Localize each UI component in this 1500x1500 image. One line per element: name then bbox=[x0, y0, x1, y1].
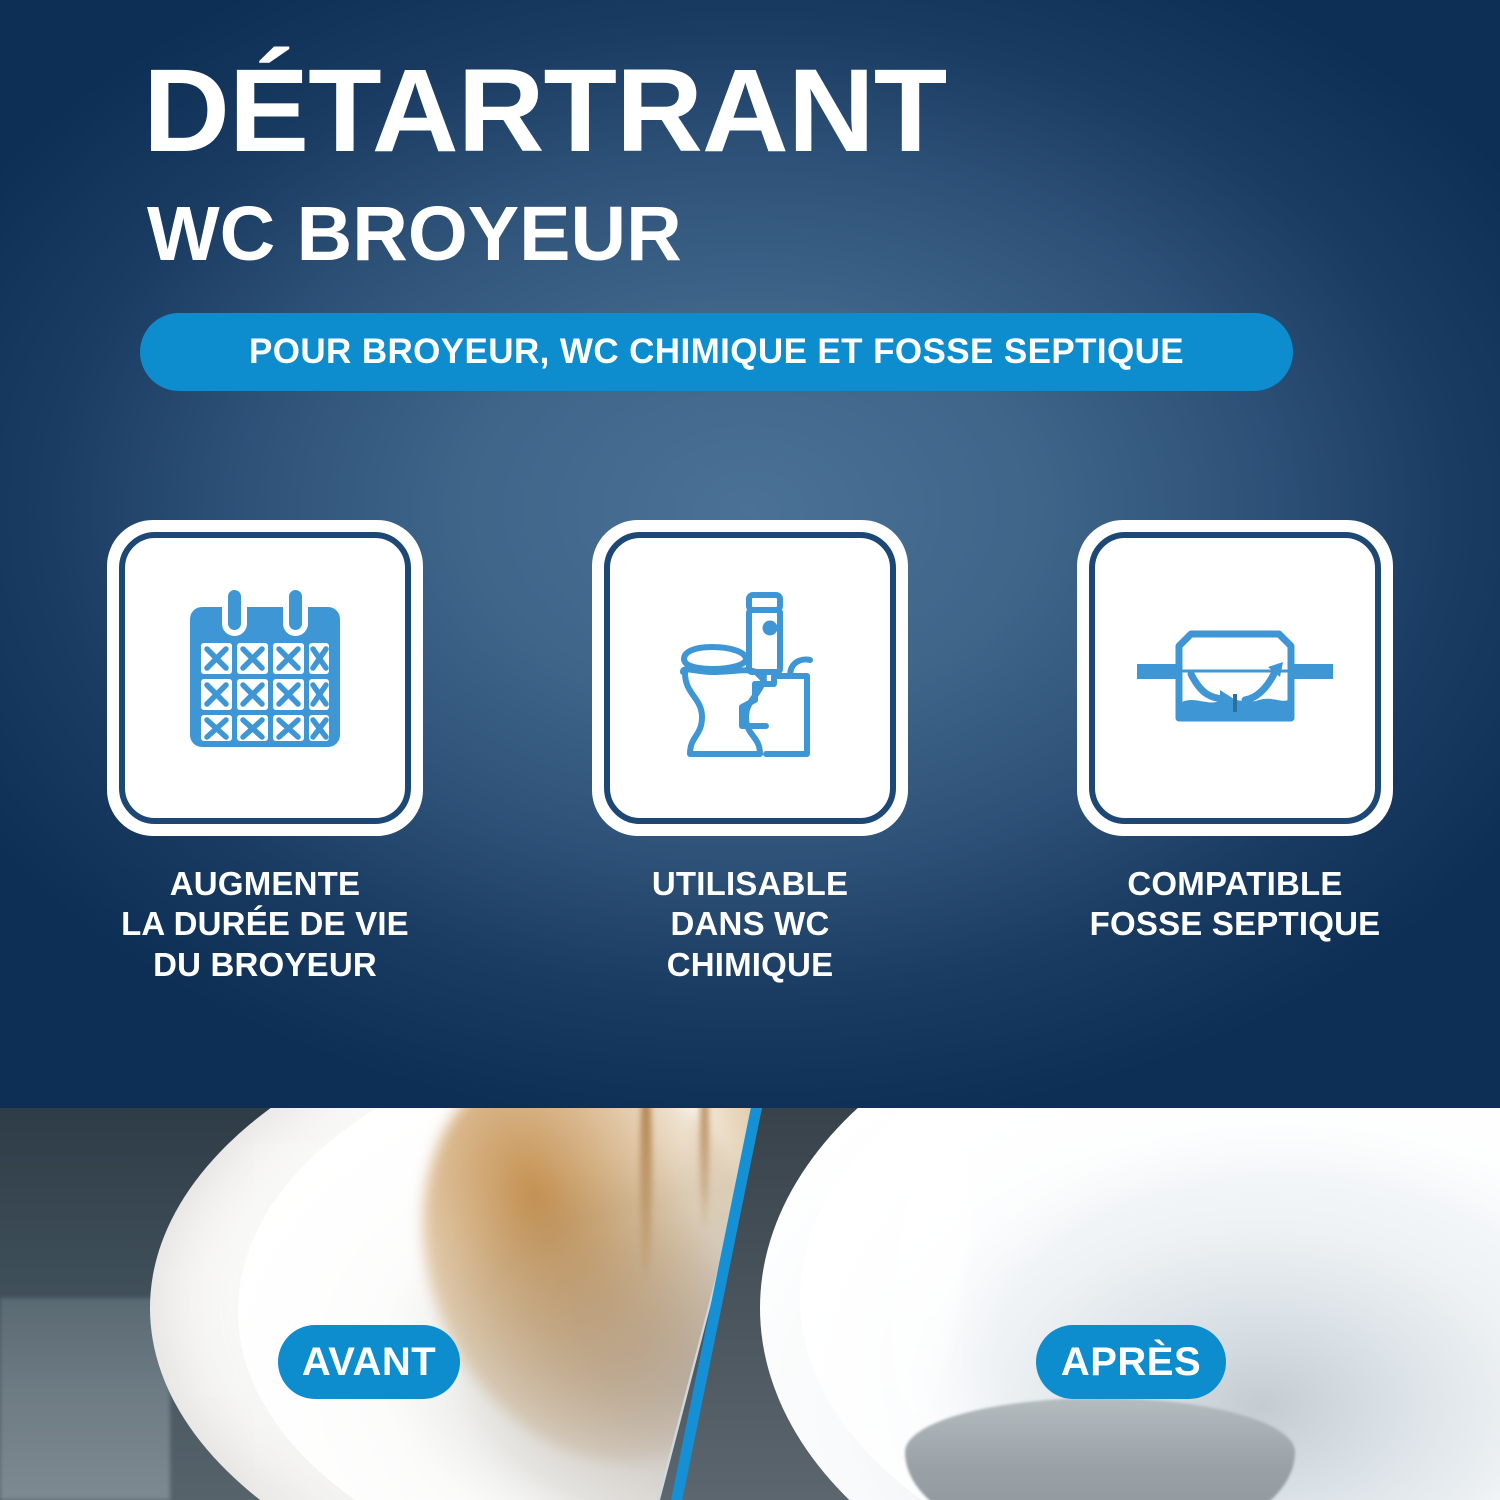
septic-tank-icon bbox=[1135, 576, 1335, 781]
usage-banner-text: POUR BROYEUR, WC CHIMIQUE ET FOSSE SEPTI… bbox=[249, 332, 1184, 372]
before-after-comparison bbox=[0, 1108, 1500, 1500]
hero-panel: DÉTARTRANT WC BROYEUR POUR BROYEUR, WC C… bbox=[0, 0, 1500, 1108]
feature-item-septic: COMPATIBLE FOSSE SEPTIQUE bbox=[1070, 520, 1400, 985]
feature-icon-card bbox=[592, 520, 908, 836]
feature-label: COMPATIBLE FOSSE SEPTIQUE bbox=[1090, 864, 1381, 945]
page-title: DÉTARTRANT bbox=[143, 52, 946, 170]
before-photo bbox=[0, 1108, 760, 1500]
after-badge: APRÈS bbox=[1036, 1325, 1226, 1399]
usage-banner: POUR BROYEUR, WC CHIMIQUE ET FOSSE SEPTI… bbox=[140, 313, 1293, 391]
product-infographic: DÉTARTRANT WC BROYEUR POUR BROYEUR, WC C… bbox=[0, 0, 1500, 1500]
page-subtitle: WC BROYEUR bbox=[147, 196, 682, 273]
feature-item-lifespan: AUGMENTE LA DURÉE DE VIE DU BROYEUR bbox=[100, 520, 430, 985]
feature-label: UTILISABLE DANS WC CHIMIQUE bbox=[585, 864, 915, 985]
feature-icon-card bbox=[107, 520, 423, 836]
calendar-x-icon bbox=[170, 581, 360, 776]
feature-item-chemical-wc: UTILISABLE DANS WC CHIMIQUE bbox=[585, 520, 915, 985]
toilet-chemical-icon bbox=[650, 576, 850, 781]
feature-icon-card bbox=[1077, 520, 1393, 836]
before-badge: AVANT bbox=[278, 1325, 460, 1399]
feature-label: AUGMENTE LA DURÉE DE VIE DU BROYEUR bbox=[121, 864, 409, 985]
feature-list: AUGMENTE LA DURÉE DE VIE DU BROYEUR bbox=[0, 520, 1500, 985]
